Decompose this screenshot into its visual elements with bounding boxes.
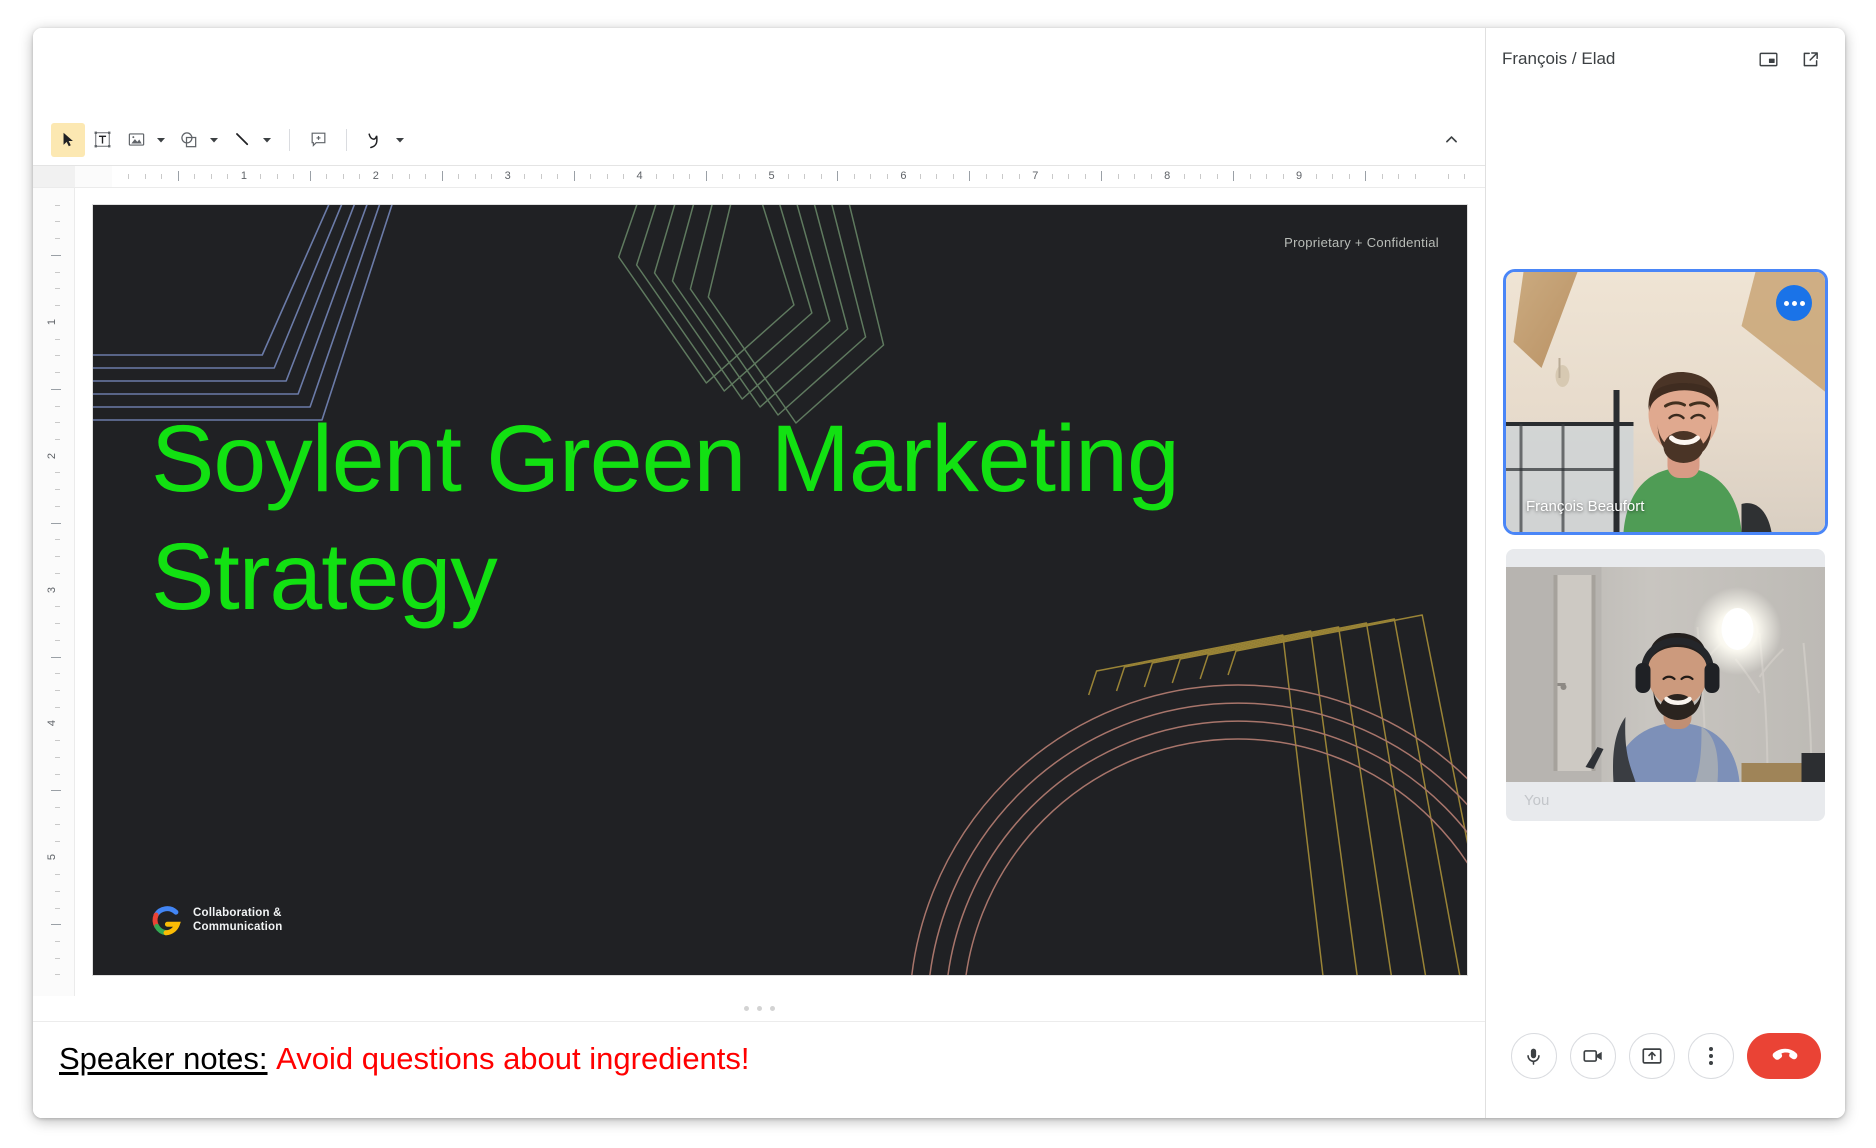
chevron-down-icon xyxy=(209,135,219,145)
slide-logo: Collaboration & Communication xyxy=(149,903,283,937)
participant-name: You xyxy=(1506,782,1825,821)
ruler-tick xyxy=(55,539,60,540)
insert-image-dropdown[interactable] xyxy=(153,123,169,157)
chevron-up-icon xyxy=(1443,131,1460,148)
speaker-notes-label: Speaker notes: xyxy=(59,1041,268,1076)
horizontal-ruler[interactable]: 123456789 xyxy=(33,166,1485,188)
ruler-tick xyxy=(837,171,838,181)
participant-tile-you[interactable]: You xyxy=(1506,549,1825,821)
hangup-icon xyxy=(1770,1042,1798,1070)
more-options-icon xyxy=(1709,1046,1713,1066)
select-tool-button[interactable] xyxy=(51,123,85,157)
open-in-new-window-button[interactable] xyxy=(1793,42,1827,76)
ruler-tick xyxy=(326,174,327,179)
handle-dot xyxy=(770,1006,775,1011)
ruler-tick xyxy=(310,171,311,181)
app-window: 123456789 12345 xyxy=(33,28,1845,1118)
ruler-tick xyxy=(359,174,360,179)
ruler-tick xyxy=(920,174,921,179)
camera-button[interactable] xyxy=(1570,1033,1616,1079)
shape-dropdown[interactable] xyxy=(206,123,222,157)
ruler-tick xyxy=(1118,174,1119,179)
ruler-tick xyxy=(51,389,61,390)
ruler-tick xyxy=(1398,174,1399,179)
meet-side-panel: François / Elad xyxy=(1485,28,1845,1118)
microphone-button[interactable] xyxy=(1511,1033,1557,1079)
ruler-tick xyxy=(557,174,558,179)
notes-resize-handle[interactable] xyxy=(33,996,1485,1022)
handle-dot xyxy=(757,1006,762,1011)
ruler-tick xyxy=(673,174,674,179)
ruler-tick xyxy=(821,174,822,179)
ruler-mark: 6 xyxy=(900,170,906,182)
slide-confidential-label: Proprietary + Confidential xyxy=(1284,235,1439,250)
ruler-tick xyxy=(1349,174,1350,179)
ruler-tick xyxy=(1200,174,1201,179)
ruler-tick xyxy=(55,774,60,775)
more-dot xyxy=(1800,301,1805,306)
ruler-tick xyxy=(227,174,228,179)
open-in-new-icon xyxy=(1800,49,1821,70)
ruler-tick xyxy=(936,174,937,179)
ruler-tick xyxy=(343,174,344,179)
ruler-tick xyxy=(51,523,61,524)
ruler-tick xyxy=(491,174,492,179)
toolbar-collapse-button[interactable] xyxy=(1435,124,1467,156)
picture-in-picture-button[interactable] xyxy=(1751,42,1785,76)
ruler-tick xyxy=(55,472,60,473)
ruler-mark: 2 xyxy=(46,453,58,459)
ruler-tick xyxy=(211,174,212,179)
ruler-tick xyxy=(1250,174,1251,179)
ruler-tick xyxy=(55,891,60,892)
ruler-tick xyxy=(1365,171,1366,181)
slide-logo-line-2: Communication xyxy=(193,920,283,934)
horizontal-ruler-track[interactable]: 123456789 xyxy=(75,166,1485,187)
ruler-tick xyxy=(1184,174,1185,179)
ruler-tick xyxy=(541,174,542,179)
more-options-button[interactable] xyxy=(1688,1033,1734,1079)
ruler-tick xyxy=(392,174,393,179)
curve-dropdown[interactable] xyxy=(392,123,408,157)
ruler-tick xyxy=(870,174,871,179)
collaboration-logo-icon xyxy=(149,903,183,937)
ruler-tick xyxy=(1019,174,1020,179)
ruler-tick xyxy=(986,174,987,179)
ruler-tick xyxy=(55,941,60,942)
webcam-image-you xyxy=(1506,567,1825,782)
more-dot xyxy=(1792,301,1797,306)
participant-name: François Beaufort xyxy=(1526,498,1644,515)
ruler-tick xyxy=(55,606,60,607)
ruler-tick xyxy=(739,174,740,179)
ruler-tick xyxy=(55,974,60,975)
present-screen-icon xyxy=(1641,1045,1663,1067)
add-comment-tool-button[interactable] xyxy=(301,123,335,157)
picture-in-picture-icon xyxy=(1758,49,1779,70)
ruler-tick xyxy=(409,174,410,179)
ruler-tick xyxy=(1101,171,1102,181)
ruler-tick xyxy=(55,305,60,306)
ruler-tick xyxy=(1085,174,1086,179)
ruler-tick xyxy=(55,272,60,273)
ruler-tick xyxy=(293,174,294,179)
present-screen-button[interactable] xyxy=(1629,1033,1675,1079)
ruler-tick xyxy=(55,288,60,289)
slide-logo-line-1: Collaboration & xyxy=(193,906,283,920)
chevron-down-icon xyxy=(156,135,166,145)
ruler-tick xyxy=(854,174,855,179)
ruler-tick xyxy=(55,707,60,708)
speaker-notes-field[interactable]: Speaker notes: Avoid questions about ing… xyxy=(33,1022,1485,1118)
ruler-tick xyxy=(1002,174,1003,179)
participant-tiles: François Beaufort xyxy=(1486,90,1845,1008)
curve-scribble-icon xyxy=(365,130,385,150)
ruler-mark: 3 xyxy=(46,587,58,593)
ruler-tick xyxy=(55,573,60,574)
ruler-tick xyxy=(458,174,459,179)
horizontal-ruler-scale: 123456789 xyxy=(112,166,1485,187)
ruler-tick xyxy=(55,908,60,909)
ruler-mark: 4 xyxy=(46,720,58,726)
line-icon xyxy=(233,130,252,149)
handle-dot xyxy=(744,1006,749,1011)
slide-canvas[interactable]: Proprietary + Confidential Soylent Green… xyxy=(93,205,1467,975)
text-box-icon xyxy=(93,130,112,149)
ruler-tick xyxy=(788,174,789,179)
ruler-mark: 8 xyxy=(1164,170,1170,182)
line-tool-button[interactable] xyxy=(225,123,259,157)
hangup-button[interactable] xyxy=(1747,1033,1821,1079)
microphone-icon xyxy=(1523,1046,1544,1067)
ruler-tick xyxy=(442,171,443,181)
meet-call-title: François / Elad xyxy=(1502,49,1743,69)
ruler-tick xyxy=(804,174,805,179)
ruler-tick xyxy=(1052,174,1053,179)
ruler-tick xyxy=(55,673,60,674)
curve-tool-button[interactable] xyxy=(358,123,392,157)
camera-icon xyxy=(1582,1045,1604,1067)
ruler-tick xyxy=(722,174,723,179)
participant-more-options-button[interactable] xyxy=(1776,285,1812,321)
ruler-tick xyxy=(1134,174,1135,179)
ruler-tick xyxy=(178,171,179,181)
toolbar-divider-2 xyxy=(346,129,347,151)
ruler-tick xyxy=(55,740,60,741)
ruler-tick xyxy=(1448,174,1449,179)
ruler-tick xyxy=(1464,174,1465,179)
shape-tool-button[interactable] xyxy=(172,123,206,157)
ruler-tick xyxy=(1283,174,1284,179)
ruler-mark: 2 xyxy=(373,170,379,182)
ruler-mark: 5 xyxy=(46,854,58,860)
meet-call-controls xyxy=(1486,1008,1845,1118)
insert-image-tool-button[interactable] xyxy=(119,123,153,157)
ruler-tick xyxy=(55,205,60,206)
ruler-tick xyxy=(524,174,525,179)
ruler-tick xyxy=(55,422,60,423)
ruler-tick xyxy=(1151,174,1152,179)
ruler-tick xyxy=(1382,174,1383,179)
ruler-tick xyxy=(55,824,60,825)
ruler-tick xyxy=(55,757,60,758)
ruler-tick xyxy=(574,171,575,181)
slide-logo-text: Collaboration & Communication xyxy=(193,906,283,935)
ruler-tick xyxy=(55,489,60,490)
ruler-tick xyxy=(55,221,60,222)
ruler-mark: 1 xyxy=(46,319,58,325)
ruler-tick xyxy=(277,174,278,179)
ruler-tick xyxy=(145,174,146,179)
ruler-tick xyxy=(161,174,162,179)
ruler-mark: 4 xyxy=(637,170,643,182)
ruler-tick xyxy=(55,807,60,808)
ruler-tick xyxy=(194,174,195,179)
line-dropdown[interactable] xyxy=(259,123,275,157)
ruler-tick xyxy=(55,874,60,875)
ruler-tick xyxy=(55,556,60,557)
ruler-tick xyxy=(953,174,954,179)
ruler-tick xyxy=(1332,174,1333,179)
slides-editor-pane: 123456789 12345 xyxy=(33,28,1485,1118)
ruler-mark: 7 xyxy=(1032,170,1038,182)
shapes-icon xyxy=(179,130,199,150)
ruler-tick xyxy=(607,174,608,179)
slides-toolbar xyxy=(33,114,1485,166)
more-dot xyxy=(1784,301,1789,306)
ruler-tick xyxy=(55,439,60,440)
image-icon xyxy=(127,130,146,149)
ruler-tick xyxy=(1068,174,1069,179)
ruler-tick xyxy=(55,372,60,373)
ruler-tick xyxy=(425,174,426,179)
ruler-tick xyxy=(55,690,60,691)
chevron-down-icon xyxy=(395,135,405,145)
ruler-tick xyxy=(55,640,60,641)
ruler-tick xyxy=(55,506,60,507)
ruler-tick xyxy=(623,174,624,179)
meet-panel-header: François / Elad xyxy=(1486,28,1845,90)
ruler-tick xyxy=(656,174,657,179)
ruler-tick xyxy=(969,171,970,181)
ruler-corner xyxy=(33,166,75,187)
ruler-mark: 1 xyxy=(241,170,247,182)
ruler-tick xyxy=(590,174,591,179)
ruler-tick xyxy=(51,657,61,658)
ruler-mark: 9 xyxy=(1296,170,1302,182)
ruler-tick xyxy=(1233,171,1234,181)
ruler-tick xyxy=(1217,174,1218,179)
add-comment-icon xyxy=(309,130,328,149)
ruler-tick xyxy=(260,174,261,179)
ruler-tick xyxy=(706,171,707,181)
participant-video-you xyxy=(1506,567,1825,782)
ruler-tick xyxy=(1316,174,1317,179)
ruler-tick xyxy=(755,174,756,179)
ruler-tick xyxy=(887,174,888,179)
ruler-tick xyxy=(55,841,60,842)
ruler-tick xyxy=(689,174,690,179)
chevron-down-icon xyxy=(262,135,272,145)
ruler-tick xyxy=(55,238,60,239)
participant-tile-francois[interactable]: François Beaufort xyxy=(1506,272,1825,532)
text-box-tool-button[interactable] xyxy=(85,123,119,157)
cursor-arrow-icon xyxy=(60,131,77,148)
ruler-tick xyxy=(55,623,60,624)
ruler-tick xyxy=(55,406,60,407)
vertical-ruler[interactable]: 12345 xyxy=(33,188,75,996)
canvas-row: 12345 xyxy=(33,188,1485,996)
ruler-tick xyxy=(1415,174,1416,179)
ruler-tick xyxy=(475,174,476,179)
ruler-tick xyxy=(51,255,61,256)
slide-canvas-area[interactable]: Proprietary + Confidential Soylent Green… xyxy=(75,188,1485,996)
participant-video-francois: François Beaufort xyxy=(1506,272,1825,532)
ruler-tick xyxy=(55,355,60,356)
ruler-tick xyxy=(55,958,60,959)
ruler-tick xyxy=(51,924,61,925)
slide-title-text[interactable]: Soylent Green Marketing Strategy xyxy=(151,401,1221,637)
ruler-tick xyxy=(128,174,129,179)
webcam-scene-you xyxy=(1506,567,1825,782)
ruler-mark: 5 xyxy=(768,170,774,182)
speaker-notes-text[interactable]: Avoid questions about ingredients! xyxy=(276,1041,749,1076)
editor-top-area xyxy=(33,28,1485,114)
ruler-tick xyxy=(55,339,60,340)
ruler-tick xyxy=(51,790,61,791)
toolbar-divider-1 xyxy=(289,129,290,151)
ruler-tick xyxy=(1266,174,1267,179)
ruler-mark: 3 xyxy=(505,170,511,182)
